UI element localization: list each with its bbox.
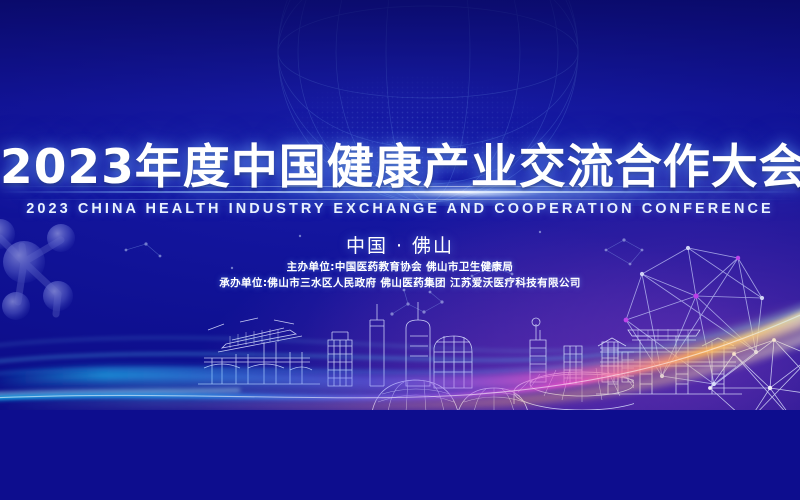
paifang-archway-icon — [592, 308, 762, 412]
bottom-plate — [0, 410, 800, 500]
network-cluster-icon — [700, 296, 800, 412]
light-ribbon-icon — [0, 300, 800, 412]
subtitle-english: 2023 CHINA HEALTH INDUSTRY EXCHANGE AND … — [0, 201, 800, 217]
city-skyline-icon — [178, 296, 634, 412]
organizer-line: 主办单位:中国医药教育协会 佛山市卫生健康局 — [0, 259, 800, 274]
conference-banner: 2023年度中国健康产业交流合作大会 2023 CHINA HEALTH IND… — [0, 0, 800, 500]
page-title: 2023年度中国健康产业交流合作大会 — [0, 128, 800, 197]
flare-line-lower — [0, 199, 800, 200]
undertaker-line: 承办单位:佛山市三水区人民政府 佛山医药集团 江苏爱沃医疗科技有限公司 — [0, 275, 800, 290]
location-label: 中国 · 佛山 — [0, 231, 800, 258]
